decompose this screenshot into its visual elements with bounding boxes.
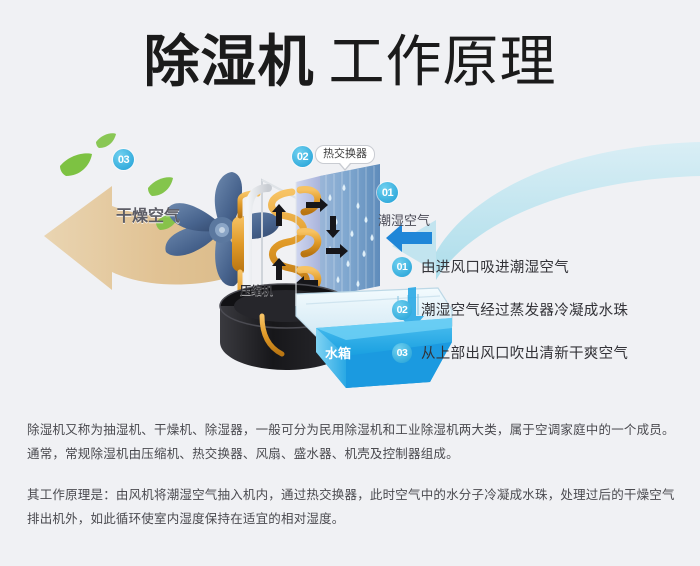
title-part-one: 除湿机 [144,30,315,93]
step-badge-01: 01 [392,257,412,277]
page-title: 除湿机工作原理 [0,34,700,90]
infographic-page: 除湿机工作原理 [0,0,700,566]
list-item: 02 潮湿空气经过蒸发器冷凝成水珠 [392,299,692,320]
callout-heat-exchanger: 热交换器 [315,145,375,164]
step-badge-03: 03 [392,343,412,363]
step-text-01: 由进风口吸进潮湿空气 [421,256,569,277]
step-text-02: 潮湿空气经过蒸发器冷凝成水珠 [421,299,628,320]
label-humid-air: 潮湿空气 [378,210,430,229]
step-text-03: 从上部出风口吹出清新干爽空气 [421,342,628,363]
label-water-tank: 水箱 [325,343,351,362]
diagram-badge-03: 03 [113,149,134,170]
paragraph-one: 除湿机又称为抽湿机、干燥机、除湿器，一般可分为民用除湿机和工业除湿机两大类，属于… [27,418,677,467]
list-item: 01 由进风口吸进潮湿空气 [392,256,692,277]
diagram-badge-01: 01 [377,182,398,203]
paragraph-two: 其工作原理是：由风机将潮湿空气抽入机内，通过热交换器，此时空气中的水分子冷凝成水… [27,483,677,532]
label-dry-air: 干燥空气 [116,202,180,226]
list-item: 03 从上部出风口吹出清新干爽空气 [392,342,692,363]
label-compressor: 压缩机 [240,282,273,298]
diagram-badge-02: 02 [292,146,313,167]
body-copy: 除湿机又称为抽湿机、干燥机、除湿器，一般可分为民用除湿机和工业除湿机两大类，属于… [27,418,677,532]
step-badge-02: 02 [392,300,412,320]
step-list: 01 由进风口吸进潮湿空气 02 潮湿空气经过蒸发器冷凝成水珠 03 从上部出风… [392,256,692,385]
title-part-two: 工作原理 [329,30,557,93]
